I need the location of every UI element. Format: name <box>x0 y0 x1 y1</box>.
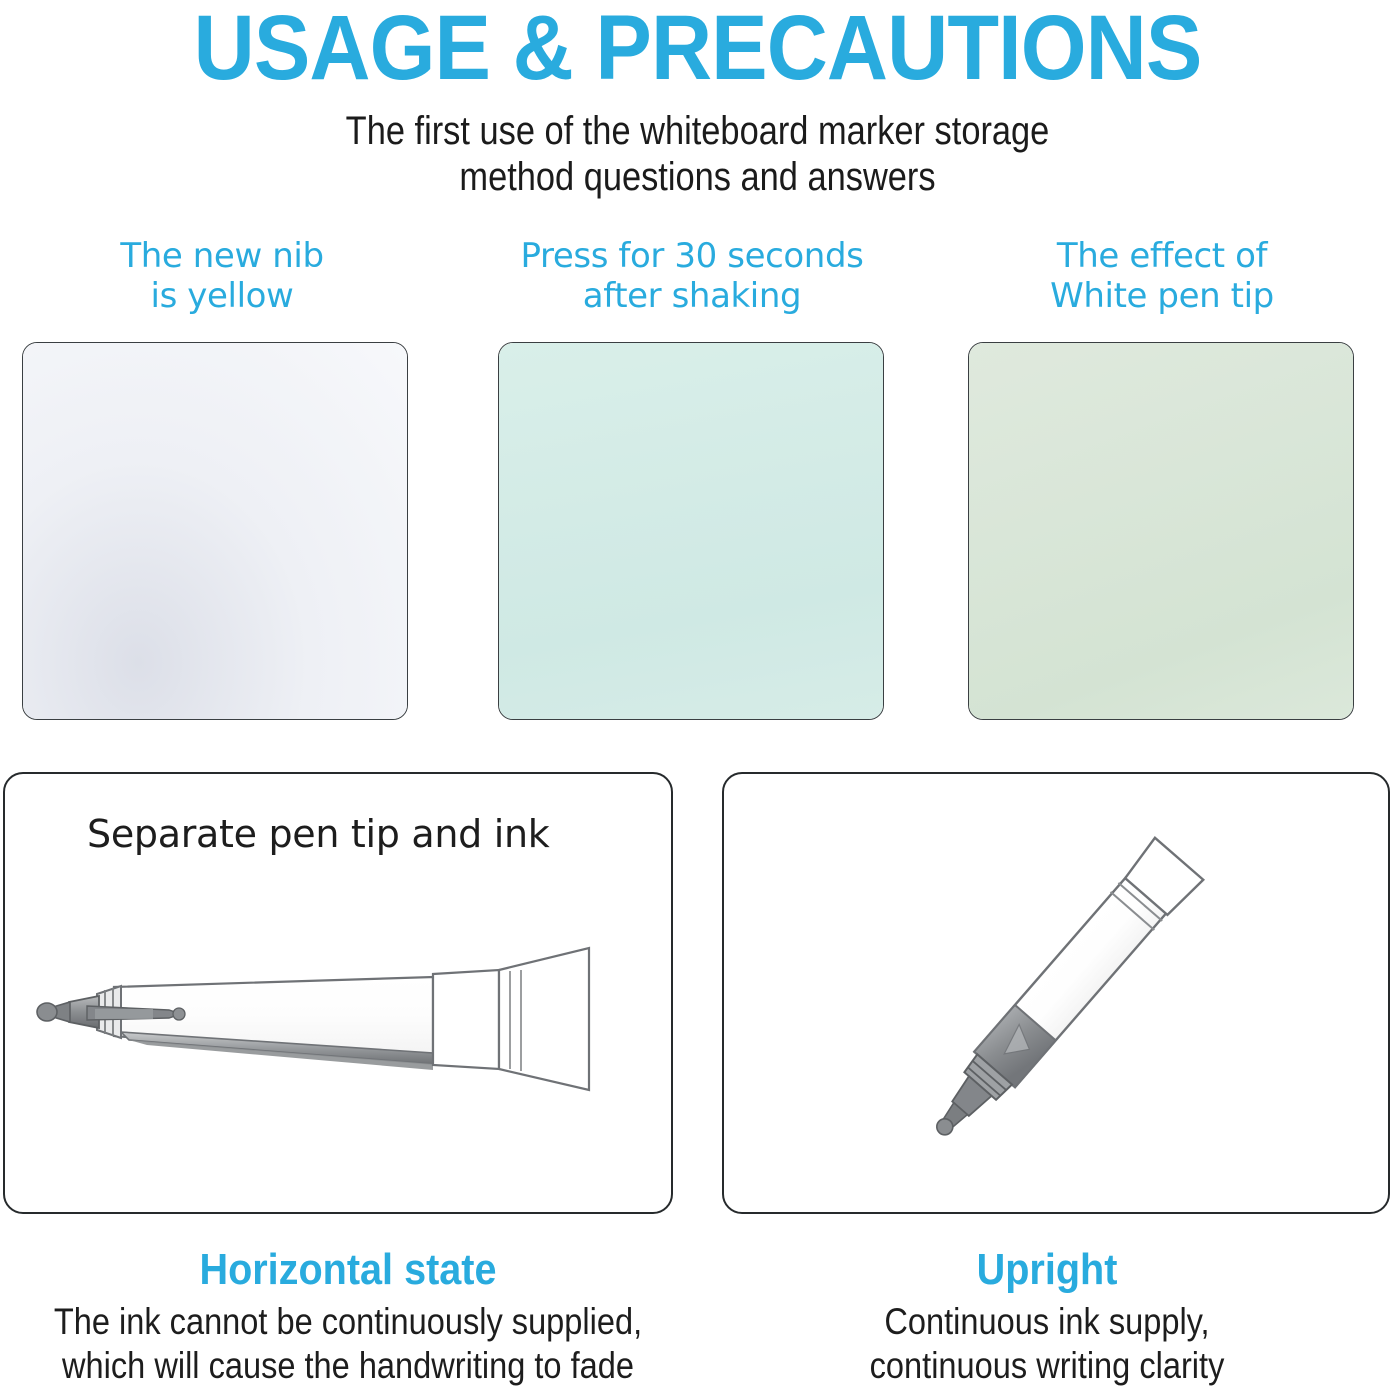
caption-upright-state: Upright Continuous ink supply, continuou… <box>699 1244 1395 1388</box>
column-heading-1-line1: The new nib <box>22 236 422 276</box>
panel-horizontal-state: Separate pen tip and ink <box>3 772 673 1214</box>
page-title: USAGE & PRECAUTIONS <box>56 0 1339 98</box>
caption-left-line1: The ink cannot be continuously supplied, <box>42 1300 654 1344</box>
photo-press-after-shaking: 1.Shake 2.Pump <box>498 342 884 720</box>
column-press-after-shaking: Press for 30 seconds after shaking <box>492 236 892 316</box>
caption-left-line2: which will cause the handwriting to fade <box>42 1344 654 1388</box>
column-heading-2-line2: after shaking <box>492 276 892 316</box>
page-subtitle-line1: The first use of the whiteboard marker s… <box>98 108 1298 154</box>
page-subtitle: The first use of the whiteboard marker s… <box>98 108 1298 200</box>
caption-left-body: The ink cannot be continuously supplied,… <box>42 1300 654 1388</box>
column-white-pen-tip: The effect of White pen tip <box>962 236 1362 316</box>
photo-1-background <box>23 343 407 719</box>
column-heading-1: The new nib is yellow <box>22 236 422 316</box>
upright-marker-diagram <box>758 792 1358 1192</box>
horizontal-marker-diagram <box>29 914 649 1214</box>
page-subtitle-line2: method questions and answers <box>98 154 1298 200</box>
photo-columns: The new nib is yellow <box>0 236 1395 726</box>
caption-right-title: Upright <box>734 1244 1360 1296</box>
photo-new-nib-yellow: 1.Sh G <box>22 342 408 720</box>
infographic-page: USAGE & PRECAUTIONS The first use of the… <box>0 0 1395 1389</box>
column-heading-3: The effect of White pen tip <box>962 236 1362 316</box>
column-heading-3-line1: The effect of <box>962 236 1362 276</box>
photo-3-background <box>969 343 1353 719</box>
column-heading-3-line2: White pen tip <box>962 276 1362 316</box>
column-heading-1-line2: is yellow <box>22 276 422 316</box>
photo-white-pen-tip-effect: ZHIDIA <box>968 342 1354 720</box>
panel-left-label: Separate pen tip and ink <box>87 812 550 856</box>
caption-right-body: Continuous ink supply, continuous writin… <box>741 1300 1353 1388</box>
caption-left-title: Horizontal state <box>35 1244 661 1296</box>
caption-horizontal-state: Horizontal state The ink cannot be conti… <box>0 1244 696 1388</box>
panel-upright-state <box>722 772 1390 1214</box>
photo-2-background <box>499 343 883 719</box>
column-new-nib: The new nib is yellow <box>22 236 422 316</box>
column-heading-2: Press for 30 seconds after shaking <box>492 236 892 316</box>
caption-right-line2: continuous writing clarity <box>741 1344 1353 1388</box>
caption-right-line1: Continuous ink supply, <box>741 1300 1353 1344</box>
column-heading-2-line1: Press for 30 seconds <box>492 236 892 276</box>
